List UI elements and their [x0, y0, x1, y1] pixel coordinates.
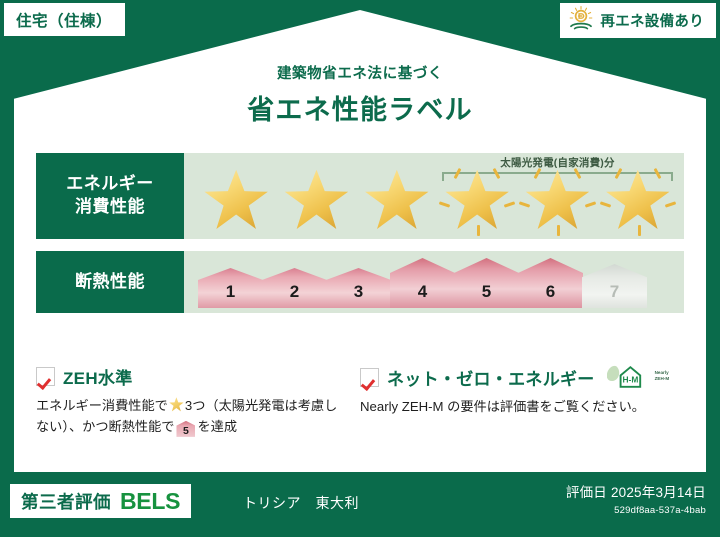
evaluation-date-label: 評価日	[566, 485, 607, 500]
zeh-standard-block: ZEH水準 エネルギー消費性能で3つ（太陽光発電は考慮しない）、かつ断熱性能で5…	[36, 364, 360, 438]
zeh-standard-checkbox[interactable]	[36, 367, 55, 386]
grade-value: 4	[418, 282, 427, 302]
energy-performance-label: 住宅（住棟） 再エネ設備あり	[0, 0, 720, 537]
zeh-standard-header: ZEH水準	[36, 364, 342, 389]
grade-value: 6	[546, 282, 555, 302]
insulation-rating-body: 1 2 3 4 5 6 7	[184, 251, 684, 313]
zeh-caption-line2: ZEH-M	[655, 376, 670, 381]
insulation-grade-3: 3	[326, 268, 391, 308]
insulation-performance-label-box: 断熱性能	[36, 251, 184, 313]
bels-prefix-label: 第三者評価	[21, 489, 111, 514]
star-icon	[203, 169, 269, 232]
energy-performance-row: エネルギー 消費性能 太陽光発電(自家消費)分	[36, 153, 684, 239]
footer: 第三者評価 BELS トリシア 東大利 評価日 2025年3月14日 529df…	[0, 472, 720, 537]
zeh-m-logo-caption: Nearly ZEH-M	[655, 370, 670, 384]
zeh-text-part3: を達成	[197, 419, 237, 434]
grade-value: 5	[482, 282, 491, 302]
project-name: トリシア 東大利	[243, 493, 359, 513]
insulation-label: 断熱性能	[75, 271, 145, 294]
evaluation-date: 評価日 2025年3月14日	[566, 481, 706, 501]
energy-label-line1: エネルギー	[66, 173, 154, 196]
zeh-standard-title: ZEH水準	[63, 364, 133, 389]
star-icon	[364, 169, 430, 232]
evaluation-id: 529df8aa-537a-4bab	[566, 505, 706, 516]
grade-value: 3	[354, 282, 363, 302]
net-zero-energy-block: ネット・ゼロ・エネルギー H-M Nearly ZEH-M Nearly ZEH…	[360, 364, 684, 438]
solar-sun-icon	[568, 5, 594, 36]
renewable-equipment-tag: 再エネ設備あり	[560, 3, 716, 38]
insulation-grade-6: 6	[518, 258, 583, 308]
evaluation-date-value: 2025年3月14日	[611, 485, 706, 500]
building-type-label: 住宅（住棟）	[16, 9, 112, 31]
insulation-grade-2: 2	[262, 268, 327, 308]
bels-logo: BELS	[120, 488, 180, 515]
net-zero-energy-description: Nearly ZEH-M の要件は評価書をご覧ください。	[360, 397, 666, 418]
insulation-grade-badge-inline: 5	[176, 421, 195, 437]
grade-value: 1	[226, 282, 235, 302]
energy-performance-label-box: エネルギー 消費性能	[36, 153, 184, 239]
zeh-text-part1: エネルギー消費性能で	[36, 398, 168, 413]
star-1	[196, 163, 276, 237]
star-3	[357, 163, 437, 237]
building-type-tag: 住宅（住棟）	[4, 3, 125, 36]
star-6-solar	[598, 163, 678, 237]
star-icon	[524, 169, 590, 232]
net-zero-energy-header: ネット・ゼロ・エネルギー H-M Nearly ZEH-M	[360, 364, 666, 390]
title-block: 建築物省エネ法に基づく 省エネ性能ラベル	[0, 62, 720, 127]
star-icon	[605, 169, 671, 232]
star-5-solar	[517, 163, 597, 237]
zeh-m-house-icon: H-M	[607, 364, 647, 390]
star-icon	[169, 397, 184, 412]
star-rating-strip	[196, 163, 678, 237]
svg-text:H-M: H-M	[622, 375, 638, 385]
star-icon	[444, 169, 510, 232]
page-title: 省エネ性能ラベル	[0, 88, 720, 127]
insulation-grade-1: 1	[198, 268, 263, 308]
bels-certification-box: 第三者評価 BELS	[10, 484, 191, 518]
insulation-performance-row: 断熱性能 1 2 3 4 5 6 7	[36, 251, 684, 313]
net-zero-energy-checkbox[interactable]	[360, 368, 379, 387]
insulation-grade-7: 7	[582, 264, 647, 308]
insulation-grade-4: 4	[390, 258, 455, 308]
evaluation-info: 評価日 2025年3月14日 529df8aa-537a-4bab	[566, 481, 706, 516]
zeh-standard-description: エネルギー消費性能で3つ（太陽光発電は考慮しない）、かつ断熱性能で5を達成	[36, 396, 342, 438]
energy-label-line2: 消費性能	[75, 196, 145, 219]
net-zero-energy-title: ネット・ゼロ・エネルギー	[387, 365, 595, 390]
energy-rating-body: 太陽光発電(自家消費)分	[184, 153, 684, 239]
grade-value: 2	[290, 282, 299, 302]
criteria-section: ZEH水準 エネルギー消費性能で3つ（太陽光発電は考慮しない）、かつ断熱性能で5…	[36, 364, 684, 438]
label-subtitle: 建築物省エネ法に基づく	[0, 62, 720, 83]
insulation-grade-strip: 1 2 3 4 5 6 7	[198, 254, 646, 308]
star-icon	[283, 169, 349, 232]
renewable-equipment-label: 再エネ設備あり	[600, 10, 704, 31]
grade-value: 7	[610, 282, 619, 302]
star-2	[276, 163, 356, 237]
insulation-grade-5: 5	[454, 258, 519, 308]
ratings-section: エネルギー 消費性能 太陽光発電(自家消費)分	[36, 153, 684, 313]
zeh-caption-line1: Nearly	[655, 370, 669, 375]
star-4-solar	[437, 163, 517, 237]
